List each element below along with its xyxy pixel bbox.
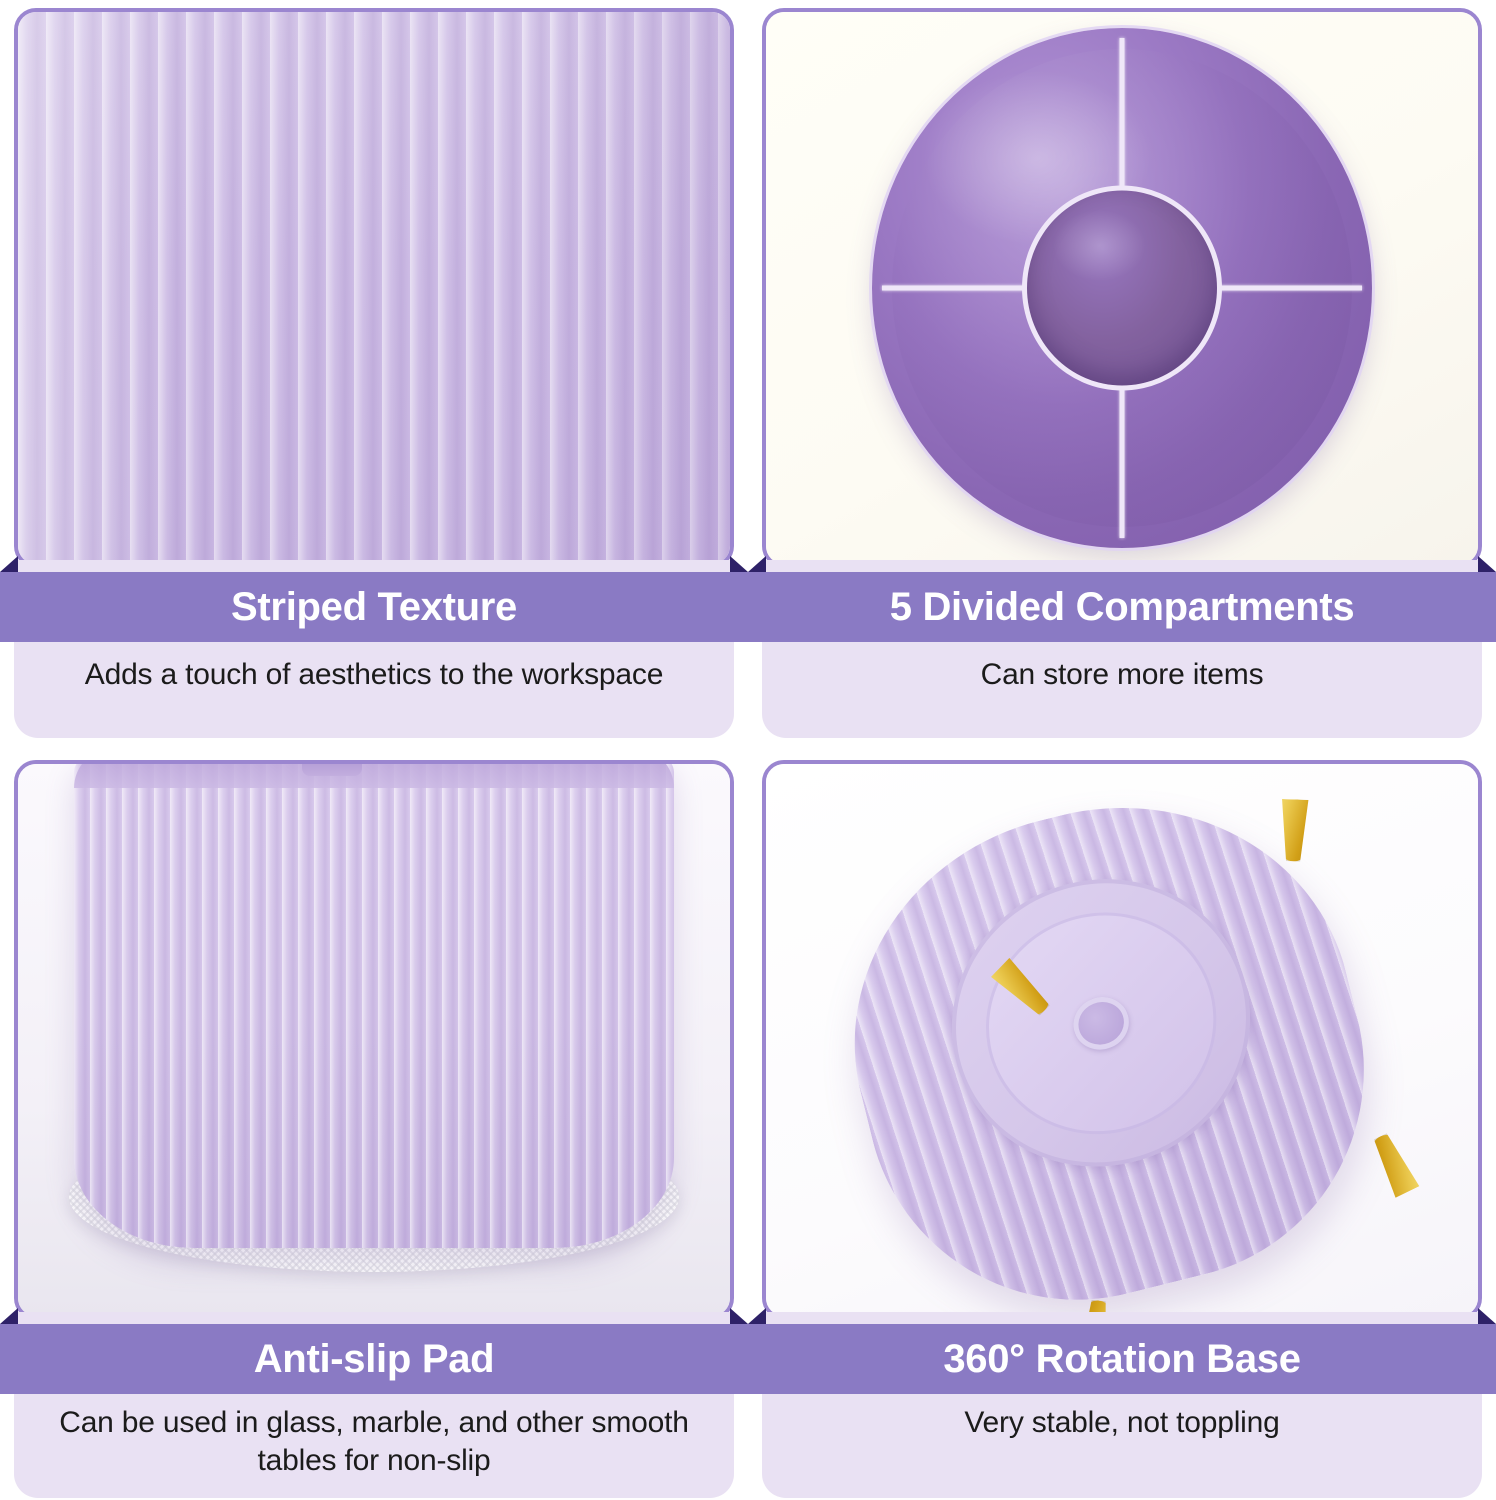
organizer-top-view-photo xyxy=(766,12,1478,564)
rotation-pivot xyxy=(1065,988,1136,1057)
feature-title: Striped Texture xyxy=(231,585,517,630)
organizer-ribbed-body xyxy=(807,760,1408,1320)
feature-card-rotation-base: Very stable, not toppling 360° Rotation … xyxy=(748,750,1496,1500)
ribbon-fold-right-icon xyxy=(1478,1308,1496,1324)
feature-title-ribbon: 360° Rotation Base xyxy=(748,1324,1496,1394)
striped-texture-closeup-photo xyxy=(18,12,730,564)
feature-title-ribbon: Striped Texture xyxy=(0,572,748,642)
ribbon-fold-right-icon xyxy=(1478,556,1496,572)
feature-description: Adds a touch of aesthetics to the worksp… xyxy=(14,656,734,694)
gold-foot xyxy=(1271,799,1317,862)
rotation-disc xyxy=(908,835,1293,1212)
feature-description: Can store more items xyxy=(762,656,1482,694)
ribbon-fold-left-icon xyxy=(0,1308,18,1324)
feature-card-striped-texture: Adds a touch of aesthetics to the worksp… xyxy=(0,0,748,750)
organizer-bottom-rotation-base-photo xyxy=(766,764,1478,1316)
feature-photo-card xyxy=(762,760,1482,1320)
ribbon-bar: Striped Texture xyxy=(0,572,748,642)
ribbon-fold-left-icon xyxy=(748,1308,766,1324)
ribbon-bar: Anti-slip Pad xyxy=(0,1324,748,1394)
feature-photo-card xyxy=(762,8,1482,568)
feature-title-ribbon: Anti-slip Pad xyxy=(0,1324,748,1394)
gold-foot xyxy=(1360,1127,1427,1202)
feature-card-divided-compartments: Can store more items 5 Divided Compartme… xyxy=(748,0,1496,750)
ribbon-bar: 360° Rotation Base xyxy=(748,1324,1496,1394)
ribbon-fold-right-icon xyxy=(730,1308,748,1324)
feature-title: 360° Rotation Base xyxy=(943,1337,1300,1382)
organizer-on-anti-slip-pad-photo xyxy=(18,764,730,1316)
organizer-ribbed-body xyxy=(74,760,674,1248)
feature-grid: Adds a touch of aesthetics to the worksp… xyxy=(0,0,1496,1500)
ribbon-fold-left-icon xyxy=(0,556,18,572)
ribbon-bar: 5 Divided Compartments xyxy=(748,572,1496,642)
feature-description: Can be used in glass, marble, and other … xyxy=(14,1404,734,1481)
feature-description: Very stable, not toppling xyxy=(762,1404,1482,1442)
feature-photo-card xyxy=(14,8,734,568)
feature-card-anti-slip-pad: Can be used in glass, marble, and other … xyxy=(0,750,748,1500)
feature-title: 5 Divided Compartments xyxy=(890,585,1355,630)
feature-photo-card xyxy=(14,760,734,1320)
feature-title-ribbon: 5 Divided Compartments xyxy=(748,572,1496,642)
organizer-rim-notch xyxy=(302,760,362,776)
ribbon-fold-left-icon xyxy=(748,556,766,572)
feature-title: Anti-slip Pad xyxy=(254,1337,495,1382)
organizer-center-compartment xyxy=(1022,186,1222,391)
ribbon-fold-right-icon xyxy=(730,556,748,572)
